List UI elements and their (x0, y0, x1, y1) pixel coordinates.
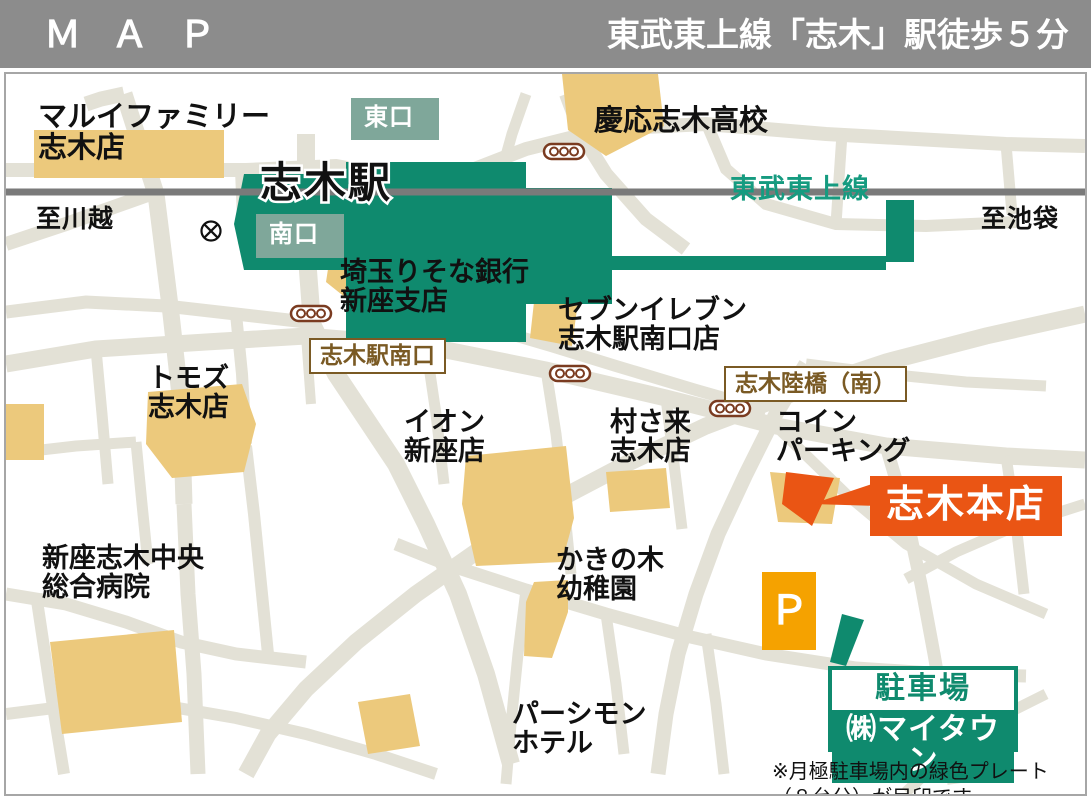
exit-label-south: 南口 (269, 223, 319, 247)
poi-label-tomods: トモズ 志木店 (148, 364, 229, 421)
intersection-label-shiki-minamiguchi: 志木駅南口 (309, 338, 446, 374)
crosswalk-icon (291, 306, 331, 321)
poi-label-keio-hs: 慶応志木高校 (594, 106, 768, 137)
direction-label-ikebukuro: 至池袋 (981, 199, 1059, 235)
poi-label-resona: 埼玉りそな銀行 新座支店 (340, 258, 529, 315)
direction-label-kawagoe: 至川越 (36, 199, 114, 235)
poi-label-hospital: 新座志木中央 総合病院 (42, 544, 204, 601)
poi-label-marui: マルイファミリー 志木店 (38, 102, 270, 163)
railway-line-label: 東武東上線 (730, 167, 870, 206)
poi-label-murasaki: 村さ来 志木店 (610, 408, 691, 465)
building-murasaki (606, 468, 670, 512)
poi-label-seven: セブンイレブン 志木駅南口店 (558, 296, 747, 353)
crosswalk-icon (550, 366, 590, 381)
store-callout-shiki-honten: 志木本店 (870, 476, 1062, 536)
parking-sign-title: 駐車場 (832, 670, 1014, 710)
page-title: Ｍ Ａ Ｐ (44, 16, 226, 53)
parking-sign-leader (830, 614, 864, 666)
parking-sign: 駐車場 ㈱マイタウン (828, 666, 1018, 752)
header-access-note: 東武東上線「志木」駅徒歩５分 (607, 18, 1069, 51)
exit-label-east: 東口 (364, 106, 414, 130)
poi-label-kindergarten: かきの木 幼稚園 (556, 546, 664, 603)
parking-note: ※月極駐車場内の緑色プレート （８台分）が目印です。 (772, 760, 1049, 796)
poi-label-aeon: イオン 新座店 (404, 408, 485, 465)
crosswalk-icon (544, 144, 584, 159)
parking-p-marker: Ｐ (762, 572, 816, 650)
building-misc-left (6, 404, 44, 460)
intersection-label-shiki-rikkyo-minami: 志木陸橋（南） (724, 366, 907, 402)
building-hospital (50, 630, 182, 734)
station-name-label: 志木駅 (260, 162, 392, 204)
map-canvas: 志木駅 東口 南口 東武東上線 至川越 至池袋 マルイファミリー 志木店 慶応志… (4, 72, 1087, 796)
page-header: Ｍ Ａ Ｐ 東武東上線「志木」駅徒歩５分 (0, 0, 1091, 68)
building-persimmon (358, 694, 420, 754)
poi-label-coin-parking: コイン パーキング (776, 408, 910, 465)
crosswalk-icon (710, 401, 750, 416)
railway-crossing-icon (202, 222, 221, 241)
map-page: Ｍ Ａ Ｐ 東武東上線「志木」駅徒歩５分 (0, 0, 1091, 800)
poi-label-persimmon: パーシモン ホテル (512, 700, 646, 757)
